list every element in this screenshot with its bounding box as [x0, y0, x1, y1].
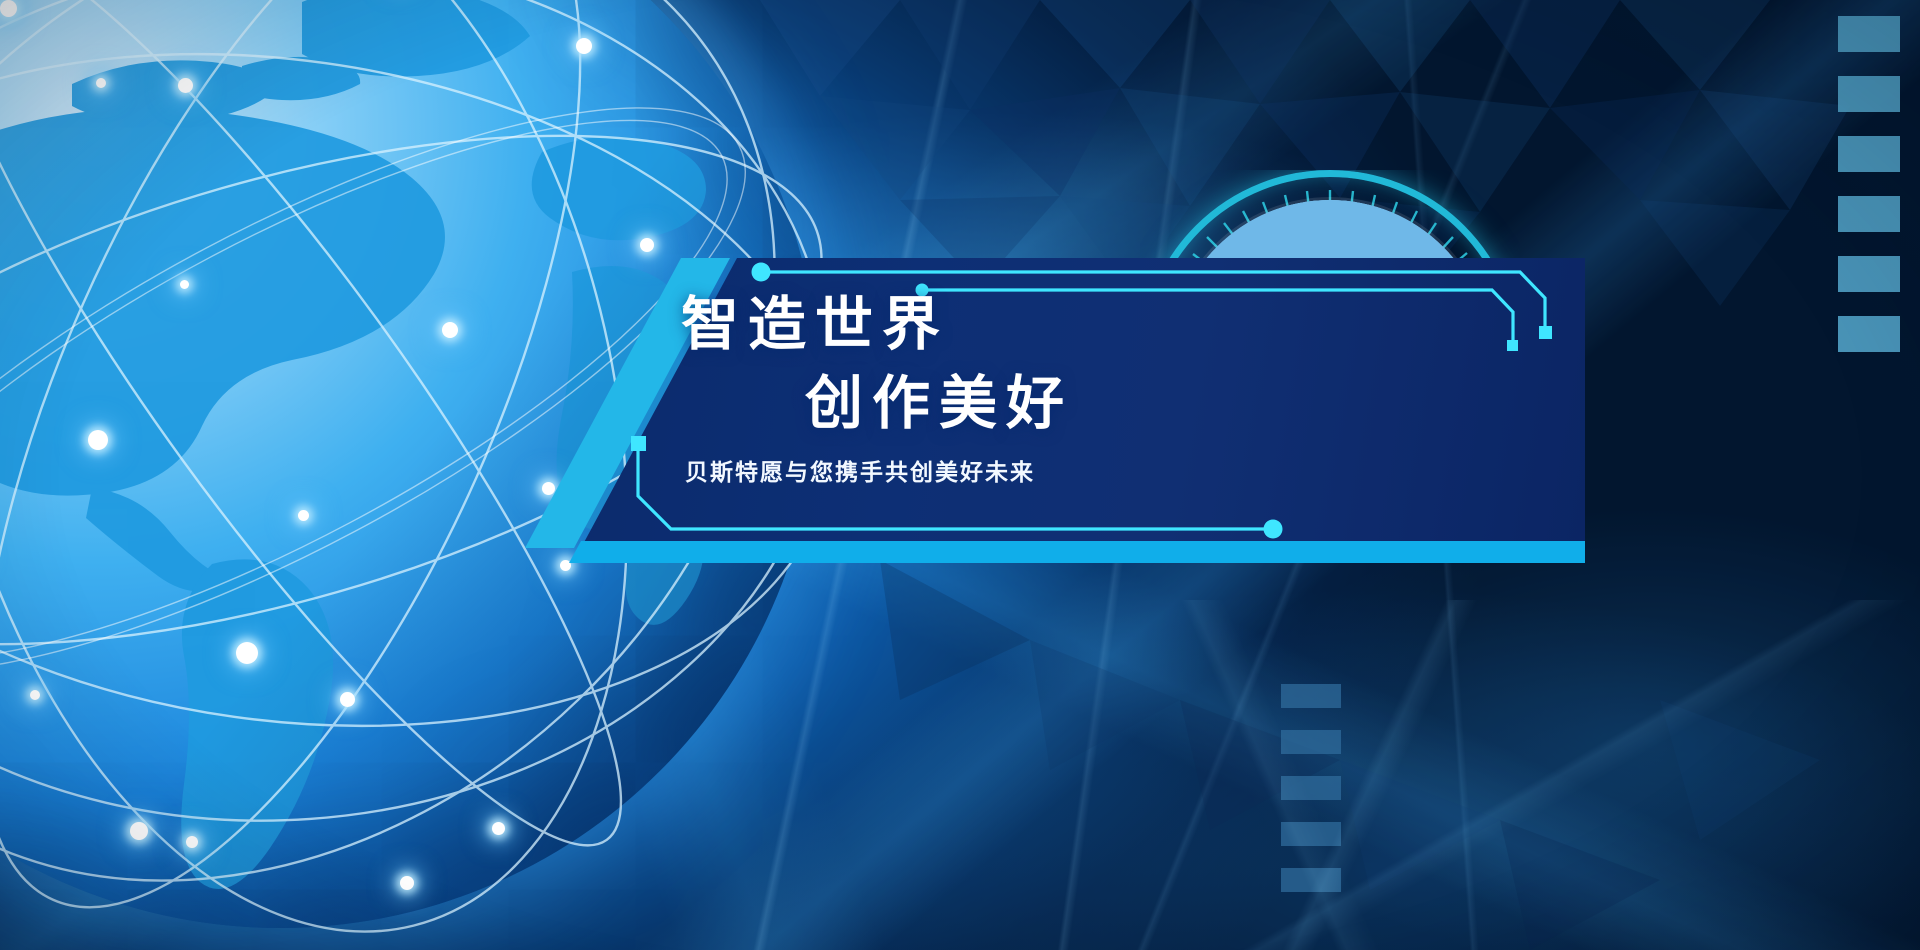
globe-node [236, 642, 258, 664]
globe-node [130, 822, 148, 840]
globe-node [640, 238, 654, 252]
globe-node [0, 0, 17, 17]
edge-bar [1838, 136, 1900, 172]
sparkle-node [186, 836, 198, 848]
globe-node [340, 692, 355, 707]
globe-node [178, 78, 193, 93]
sparkle-node [96, 78, 106, 88]
globe-node [298, 510, 309, 521]
globe-node [400, 876, 414, 890]
edge-bar [1838, 316, 1900, 352]
hero-subtitle: 贝斯特愿与您携手共创美好未来 [685, 461, 1035, 484]
headline-line-2: 创作美好 [805, 375, 1073, 433]
banner-canvas: 华 贝斯特 BEST 精密 машин 热烈欢迎莅临指导 [0, 0, 1920, 950]
edge-bar [1838, 16, 1900, 52]
edge-bar [1838, 76, 1900, 112]
foreground-facets [1020, 600, 1920, 950]
right-edge-bar-ladder [1838, 16, 1900, 376]
sparkle-node [560, 560, 571, 571]
globe-node [88, 430, 108, 450]
globe-node [180, 280, 189, 289]
edge-bar [1838, 196, 1900, 232]
globe-node [576, 38, 592, 54]
hero-panel: 智造世界 创作美好 贝斯特愿与您携手共创美好未来 [525, 258, 1585, 548]
hero-text-block: 智造世界 创作美好 贝斯特愿与您携手共创美好未来 [525, 258, 1585, 548]
globe-node [442, 322, 458, 338]
sparkle-node [492, 822, 505, 835]
headline-line-1: 智造世界 [681, 296, 949, 354]
globe-node [30, 690, 40, 700]
edge-bar [1838, 256, 1900, 292]
